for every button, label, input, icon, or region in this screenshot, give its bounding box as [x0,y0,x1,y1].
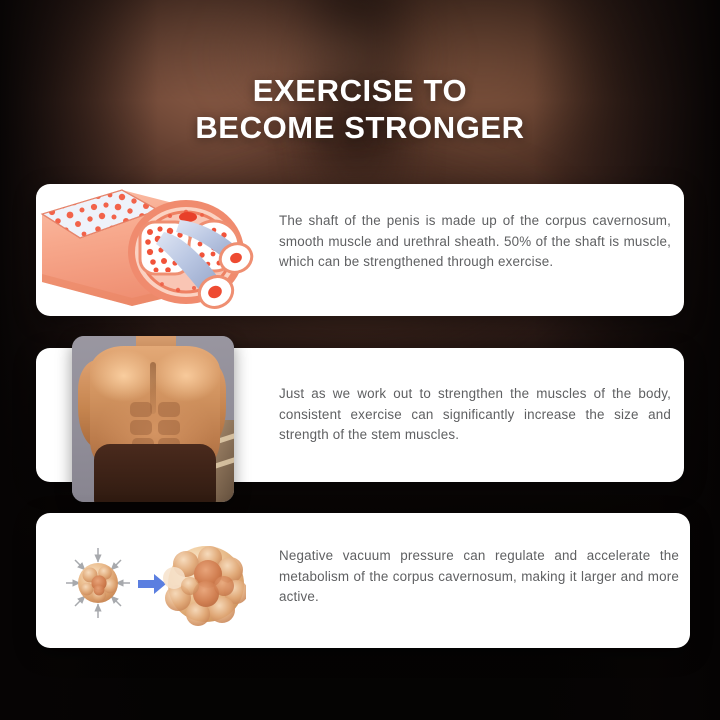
transition-arrow-icon [138,574,166,594]
muscular-torso-photo [72,336,234,502]
info-card-anatomy[interactable]: The shaft of the penis is made up of the… [36,184,684,316]
photo-abdominal [158,420,180,435]
title-line-1: EXERCISE TO [0,72,720,109]
card-text-workout: Just as we work out to strengthen the mu… [279,384,671,446]
poster-title: EXERCISE TO BECOME STRONGER [0,72,720,146]
photo-abdominal [130,402,152,417]
title-line-2: BECOME STRONGER [0,109,720,146]
photo-shorts [94,444,216,502]
photo-abdominal [158,402,180,417]
card-text-vacuum: Negative vacuum pressure can regulate an… [279,546,679,608]
poster-root: EXERCISE TO BECOME STRONGER The shaft of… [0,0,720,720]
cell-cluster-small [78,563,118,603]
card-text-anatomy: The shaft of the penis is made up of the… [279,211,671,273]
cell-cluster-large [163,546,246,626]
cell-growth-diagram [58,540,246,628]
photo-abdominal [130,420,152,435]
